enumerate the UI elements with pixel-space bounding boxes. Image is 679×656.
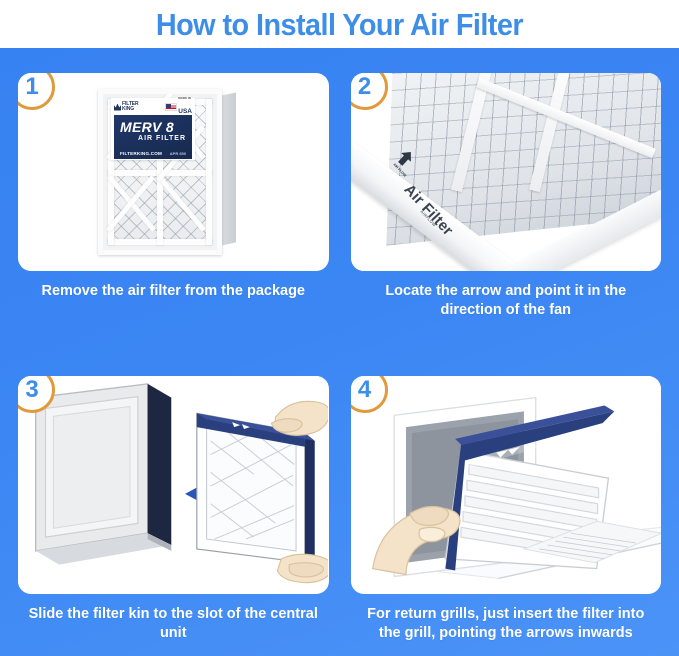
central-unit-slot bbox=[36, 384, 172, 565]
step-2-illustration: AIR FLOW Air Filter AIRFLOW bbox=[351, 73, 662, 271]
step-4-caption-wrap: For return grills, just insert the filte… bbox=[351, 594, 662, 646]
label-navy-panel: MERV 8 AIR FILTER FILTERKING.COM APR 650 bbox=[114, 115, 192, 159]
product-type: AIR FILTER bbox=[120, 135, 186, 142]
brand-lockup: FILTER KING bbox=[114, 102, 139, 113]
merv-rating: MERV 8 bbox=[120, 120, 186, 134]
step-4-caption: For return grills, just insert the filte… bbox=[351, 605, 662, 644]
made-in-text: MADE IN bbox=[178, 97, 192, 100]
filter-front-face: FILTER KING MADE IN USA bbox=[98, 89, 222, 255]
crown-icon bbox=[114, 104, 121, 111]
blue-framed-filter bbox=[197, 413, 315, 568]
step-3-caption-wrap: Slide the filter kin to the slot of the … bbox=[18, 594, 329, 646]
page-title: How to Install Your Air Filter bbox=[156, 9, 523, 40]
hand-top bbox=[271, 401, 328, 435]
step-1: 1 bbox=[18, 73, 329, 368]
website-text: FILTERKING.COM bbox=[120, 151, 162, 156]
step-4: 4 bbox=[351, 376, 662, 646]
filter-brace-right bbox=[206, 99, 212, 245]
step-2-caption-wrap: Locate the arrow and point it in the dir… bbox=[351, 271, 662, 368]
step-2-caption: Locate the arrow and point it in the dir… bbox=[351, 282, 662, 321]
filter-corner-photo: AIR FLOW Air Filter AIRFLOW bbox=[351, 73, 662, 271]
step-3-illustration bbox=[18, 376, 329, 594]
apr-rating: APR 650 bbox=[170, 151, 186, 156]
step-1-card: 1 bbox=[18, 73, 329, 271]
infographic-page: How to Install Your Air Filter 1 bbox=[0, 0, 679, 656]
step-3: 3 bbox=[18, 376, 329, 646]
filter-product-label: FILTER KING MADE IN USA bbox=[111, 98, 195, 160]
step-3-card: 3 bbox=[18, 376, 329, 594]
step-2-card: 2 AIR FLOW Air Filter AIRFLOW bbox=[351, 73, 662, 271]
brand-name: FILTER KING bbox=[122, 102, 139, 113]
step-1-caption-wrap: Remove the air filter from the package bbox=[18, 271, 329, 368]
step-3-caption: Slide the filter kin to the slot of the … bbox=[18, 605, 329, 644]
brand-line-2: KING bbox=[122, 106, 134, 112]
header-banner: How to Install Your Air Filter bbox=[0, 0, 679, 48]
usa-flag-icon bbox=[165, 103, 177, 111]
insert-filter-into-return-grill-drawing bbox=[351, 376, 661, 590]
step-4-card: 4 bbox=[351, 376, 662, 594]
hand-bottom bbox=[277, 554, 328, 582]
step-1-caption: Remove the air filter from the package bbox=[36, 282, 312, 301]
filter-product-photo: FILTER KING MADE IN USA bbox=[94, 87, 246, 257]
label-top-row: FILTER KING MADE IN USA bbox=[114, 101, 192, 113]
steps-grid: 1 bbox=[0, 48, 679, 656]
step-2: 2 AIR FLOW Air Filter AIRFLOW bbox=[351, 73, 662, 368]
step-1-illustration: FILTER KING MADE IN USA bbox=[18, 73, 329, 271]
step-4-illustration bbox=[351, 376, 662, 594]
country-text: USA bbox=[178, 108, 192, 115]
slide-filter-into-slot-drawing bbox=[18, 376, 328, 590]
